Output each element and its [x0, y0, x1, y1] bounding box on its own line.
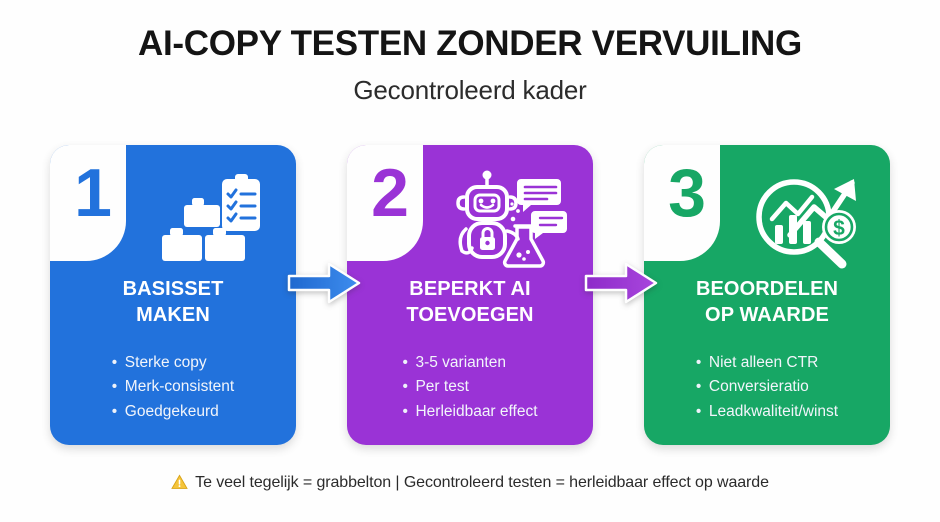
- arrow-step1-to-step2: [287, 262, 361, 304]
- warning-triangle-icon: [171, 474, 192, 491]
- list-item: •Sterke copy: [112, 351, 234, 375]
- step-number-3: 3: [650, 159, 722, 227]
- list-item: •3-5 varianten: [402, 351, 537, 375]
- arrow-step2-to-step3: [584, 262, 658, 304]
- step-bullets-2: •3-5 varianten •Per test •Herleidbaar ef…: [347, 351, 593, 424]
- list-item-label: Merk-consistent: [125, 378, 234, 395]
- step-heading-1-line1: BASISSET: [60, 277, 286, 303]
- bullet-dot: •: [696, 400, 709, 424]
- steps-row: 1: [50, 145, 890, 445]
- footer-note: Te veel tegelijk = grabbelton | Gecontro…: [0, 474, 940, 492]
- bullet-dot: •: [402, 351, 415, 375]
- step-heading-1-line2: MAKEN: [60, 303, 286, 329]
- bullet-dot: •: [696, 351, 709, 375]
- list-item: •Niet alleen CTR: [696, 351, 838, 375]
- step-heading-1: BASISSET MAKEN: [60, 277, 286, 328]
- building-blocks-clipboard-icon: [142, 167, 282, 271]
- bullet-dot: •: [112, 400, 125, 424]
- step-card-1[interactable]: 1: [50, 145, 296, 445]
- step-number-2: 2: [353, 159, 425, 227]
- list-item-label: Niet alleen CTR: [709, 354, 818, 371]
- bullet-dot: •: [112, 351, 125, 375]
- list-item-label: Conversieratio: [709, 378, 809, 395]
- page-subtitle: Gecontroleerd kader: [0, 75, 940, 106]
- step-heading-2: BEPERKT AI TOEVOEGEN: [357, 277, 583, 328]
- step-card-2[interactable]: 2: [347, 145, 593, 445]
- list-item-label: Goedgekeurd: [125, 403, 219, 420]
- step-number-1: 1: [56, 159, 128, 227]
- header: AI-COPY TESTEN ZONDER VERVUILING Gecontr…: [0, 24, 940, 106]
- svg-text:$: $: [833, 217, 845, 240]
- list-item-label: Leadkwaliteit/winst: [709, 403, 838, 420]
- bullet-dot: •: [112, 375, 125, 399]
- step-heading-3: BEOORDELEN OP WAARDE: [654, 277, 880, 328]
- infographic-canvas: AI-COPY TESTEN ZONDER VERVUILING Gecontr…: [0, 0, 940, 522]
- robot-lock-chat-flask-icon: [439, 167, 579, 271]
- list-item: •Conversieratio: [696, 375, 838, 399]
- list-item-label: Herleidbaar effect: [415, 403, 537, 420]
- list-item: •Leadkwaliteit/winst: [696, 400, 838, 424]
- step-bullets-1: •Sterke copy •Merk-consistent •Goedgekeu…: [50, 351, 296, 424]
- bullet-dot: •: [402, 375, 415, 399]
- magnifier-growth-chart-dollar-icon: $: [736, 167, 876, 271]
- step-heading-2-line1: BEPERKT AI: [357, 277, 583, 303]
- step-heading-2-line2: TOEVOEGEN: [357, 303, 583, 329]
- list-item: •Goedgekeurd: [112, 400, 234, 424]
- bullet-dot: •: [696, 375, 709, 399]
- list-item-label: Per test: [415, 378, 468, 395]
- list-item: •Merk-consistent: [112, 375, 234, 399]
- step-bullets-3: •Niet alleen CTR •Conversieratio •Leadkw…: [644, 351, 890, 424]
- list-item: •Herleidbaar effect: [402, 400, 537, 424]
- step-heading-3-line1: BEOORDELEN: [654, 277, 880, 303]
- bullet-dot: •: [402, 400, 415, 424]
- list-item-label: Sterke copy: [125, 354, 207, 371]
- step-heading-3-line2: OP WAARDE: [654, 303, 880, 329]
- step-card-3[interactable]: 3: [644, 145, 890, 445]
- list-item: •Per test: [402, 375, 537, 399]
- page-title: AI-COPY TESTEN ZONDER VERVUILING: [0, 24, 940, 64]
- list-item-label: 3-5 varianten: [415, 354, 505, 371]
- footer-note-text: Te veel tegelijk = grabbelton | Gecontro…: [195, 474, 769, 491]
